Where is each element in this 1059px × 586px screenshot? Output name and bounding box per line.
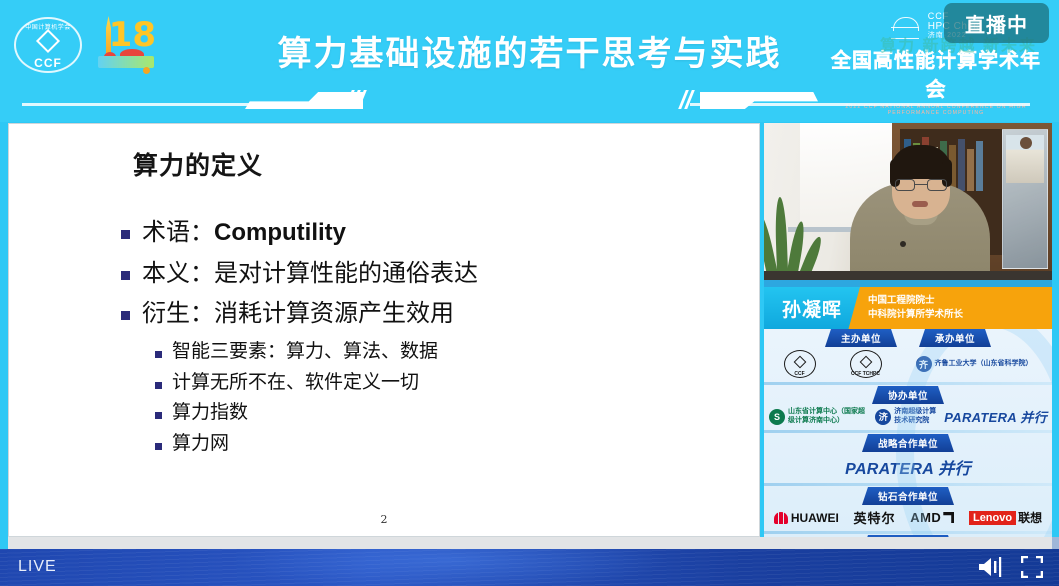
speaker-name-block: 孙凝晖 <box>764 287 860 329</box>
sponsor-tier-label: 钻石合作单位 <box>862 487 954 505</box>
sponsor-tier: 协办单位 S 山东省计算中心（国家超级计算济南中心） 济 济南超级计算技术研究院… <box>764 386 1052 429</box>
sponsor-logo-ccf: CCF <box>784 350 816 378</box>
player-controls <box>977 556 1043 583</box>
video-speaker-microphone <box>900 241 906 247</box>
bullet-square-icon <box>121 311 130 320</box>
sponsor-seal-icon: S <box>769 409 785 425</box>
sponsor-logo-ccf-tchpc: CCF TCHPC <box>850 350 882 378</box>
sponsor-tier-label: 承办单位 <box>919 329 991 347</box>
speaker-video[interactable] <box>764 123 1052 287</box>
volume-icon[interactable] <box>977 556 1003 583</box>
header-decoration-shape-right <box>700 92 818 109</box>
header-decoration-slashes-left <box>348 90 363 109</box>
speaker-titles: 中国工程院院士 中科院计算所学术所长 <box>860 287 1052 329</box>
video-reflection-head <box>1020 137 1032 149</box>
hpc-dome-icon <box>890 11 920 41</box>
list-item: 衍生：消耗计算资源产生效用 <box>121 300 741 328</box>
sponsor-tier: 主办单位 承办单位 CCF CCF TCHPC 齐 齐鲁工业大学（山东省科学院） <box>764 329 1052 381</box>
panel-bottom-strip <box>1052 537 1059 549</box>
bullet-text: 术语：Computility <box>142 219 346 247</box>
speaker-info-banner: 孙凝晖 中国工程院院士 中科院计算所学术所长 <box>764 287 1052 329</box>
slide-bottom-strip <box>8 537 1052 549</box>
right-panel: 孙凝晖 中国工程院院士 中科院计算所学术所长 主办单位 承办单位 CCF CCF… <box>764 123 1052 537</box>
sub-bullet-text: 计算无所不在、软件定义一切 <box>172 372 419 394</box>
sponsor-tier-label: 战略合作单位 <box>862 434 954 452</box>
list-item: 智能三要素：算力、算法、数据 <box>155 341 741 363</box>
sponsor-logo-caption: 山东省计算中心（国家超级计算济南中心） <box>788 408 870 426</box>
sponsor-tier-headings: 战略合作单位 <box>764 434 1052 452</box>
live-indicator-label: LIVE <box>18 558 57 576</box>
live-status-badge: 直播中 <box>944 3 1049 43</box>
list-item: 计算无所不在、软件定义一切 <box>155 372 741 394</box>
sponsor-logo-caption: HUAWEI <box>791 511 839 525</box>
sponsor-seal-icon: 济 <box>875 409 891 425</box>
header-decoration-slashes-right <box>682 90 691 109</box>
presentation-slide[interactable]: 算力的定义 术语：Computility 本义：是对计算性能的通俗表达 衍生：消… <box>8 123 760 537</box>
bullet-value: 是对计算性能的通俗表达 <box>214 259 478 287</box>
sponsor-logo-tchpc-abbr: CCF TCHPC <box>850 371 882 377</box>
sponsor-logo-paratera: PARATERA 并行 <box>845 455 971 479</box>
sponsor-logo-intel: 英特尔 <box>854 508 896 527</box>
sponsor-divider <box>764 430 1052 433</box>
sponsor-logo-caption: AMD <box>910 510 941 525</box>
sponsor-logo-lenovo: Lenovo 联想 <box>969 509 1042 526</box>
slide-sub-bullet-list: 智能三要素：算力、算法、数据 计算无所不在、软件定义一切 算力指数 算力网 <box>155 341 741 455</box>
sponsor-tier-headings: 协办单位 <box>764 386 1052 404</box>
sponsor-tier: 战略合作单位 PARATERA 并行 <box>764 434 1052 482</box>
bullet-label: 本义： <box>142 259 214 287</box>
sponsor-logo-qlut: 齐 齐鲁工业大学（山东省科学院） <box>916 356 1033 372</box>
list-item: 术语：Computility <box>121 219 741 247</box>
sponsor-logo-jnsc: 济 济南超级计算技术研究院 <box>875 408 939 426</box>
sponsor-tier-label: 白金合作单位 <box>862 535 954 537</box>
sub-bullet-text: 智能三要素：算力、算法、数据 <box>172 341 438 363</box>
list-item: 本义：是对计算性能的通俗表达 <box>121 260 741 288</box>
sponsor-seal-icon: 齐 <box>916 356 932 372</box>
speaker-title-1: 中国工程院院士 <box>868 294 1052 308</box>
sponsor-logo-row: S 山东省计算中心（国家超级计算济南中心） 济 济南超级计算技术研究院 PARA… <box>764 404 1052 429</box>
sponsor-logo-huawei: HUAWEI <box>774 511 839 525</box>
slide-bullet-list: 术语：Computility 本义：是对计算性能的通俗表达 衍生：消耗计算资源产… <box>121 219 741 464</box>
sponsor-panel: 主办单位 承办单位 CCF CCF TCHPC 齐 齐鲁工业大学（山东省科学院） <box>764 329 1052 537</box>
bullet-text: 本义：是对计算性能的通俗表达 <box>142 260 478 288</box>
live-badge-label: 直播中 <box>965 9 1028 38</box>
sponsor-logo-sdcc: S 山东省计算中心（国家超级计算济南中心） <box>769 408 870 426</box>
bullet-text: 衍生：消耗计算资源产生效用 <box>142 300 454 328</box>
sub-bullet-text: 算力网 <box>172 433 229 455</box>
header-decoration-line-right <box>690 103 1030 106</box>
speaker-title-2: 中科院计算所学术所长 <box>868 308 1052 322</box>
bullet-square-icon <box>121 230 130 239</box>
sub-bullet-square-icon <box>155 382 162 389</box>
speaker-name: 孙凝晖 <box>782 295 842 322</box>
video-speaker-glasses <box>895 179 947 191</box>
sponsor-logo-caption: 济南超级计算技术研究院 <box>894 408 939 426</box>
sponsor-divider <box>764 382 1052 385</box>
sponsor-logo-row: CCF CCF TCHPC 齐 齐鲁工业大学（山东省科学院） <box>764 347 1052 381</box>
sub-bullet-square-icon <box>155 351 162 358</box>
sponsor-tier-headings: 钻石合作单位 <box>764 487 1052 505</box>
sponsor-logo-amd: AMD <box>910 510 954 525</box>
video-bottom-strip <box>764 280 1052 287</box>
video-speaker-mouth <box>912 201 928 207</box>
sponsor-divider <box>764 483 1052 486</box>
sub-bullet-square-icon <box>155 443 162 450</box>
sponsor-tier-label: 协办单位 <box>872 386 944 404</box>
sponsor-logo-caption: 齐鲁工业大学（山东省科学院） <box>935 360 1033 369</box>
slide-title: 算力的定义 <box>133 146 263 182</box>
bullet-label: 术语： <box>142 218 214 246</box>
bullet-square-icon <box>121 271 130 280</box>
sub-bullet-square-icon <box>155 412 162 419</box>
sponsor-tier: 钻石合作单位 HUAWEI 英特尔 AMD Lenovo 联想 <box>764 487 1052 530</box>
huawei-petal-icon <box>774 512 788 524</box>
sponsor-logo-row: HUAWEI 英特尔 AMD Lenovo 联想 <box>764 505 1052 530</box>
sub-bullet-text: 算力指数 <box>172 402 248 424</box>
sponsor-tier-headings: 主办单位 承办单位 <box>764 329 1052 347</box>
list-item: 算力网 <box>155 433 741 455</box>
slide-page-number: 2 <box>9 513 759 526</box>
bullet-value: 消耗计算资源产生效用 <box>214 299 454 327</box>
bullet-value: Computility <box>214 219 346 246</box>
bottom-bar-wave-texture <box>0 549 1059 586</box>
bottom-bar-wave-highlight <box>212 549 689 586</box>
lenovo-en-label: Lenovo <box>969 511 1016 525</box>
bullet-label: 衍生： <box>142 299 214 327</box>
sponsor-logo-row: PARATERA 并行 <box>764 452 1052 482</box>
sponsor-logo-ccf-abbr: CCF <box>784 371 816 377</box>
page-header: 中国计算机学会 CCF 18 算力基础设施的若干思考与实践 CCF HPC Ch… <box>0 0 1059 122</box>
sponsor-divider <box>764 531 1052 534</box>
sponsor-tier-label: 主办单位 <box>825 329 897 347</box>
player-bottom-bar: LIVE <box>0 549 1059 586</box>
amd-arrow-icon <box>943 512 954 523</box>
list-item: 算力指数 <box>155 402 741 424</box>
lenovo-cn-label: 联想 <box>1018 509 1042 526</box>
fullscreen-icon[interactable] <box>1021 556 1043 583</box>
hpc-logo-name-cn: 全国高性能计算学术年会 <box>831 44 1041 102</box>
sponsor-logo-paratera: PARATERA 并行 <box>944 407 1047 426</box>
